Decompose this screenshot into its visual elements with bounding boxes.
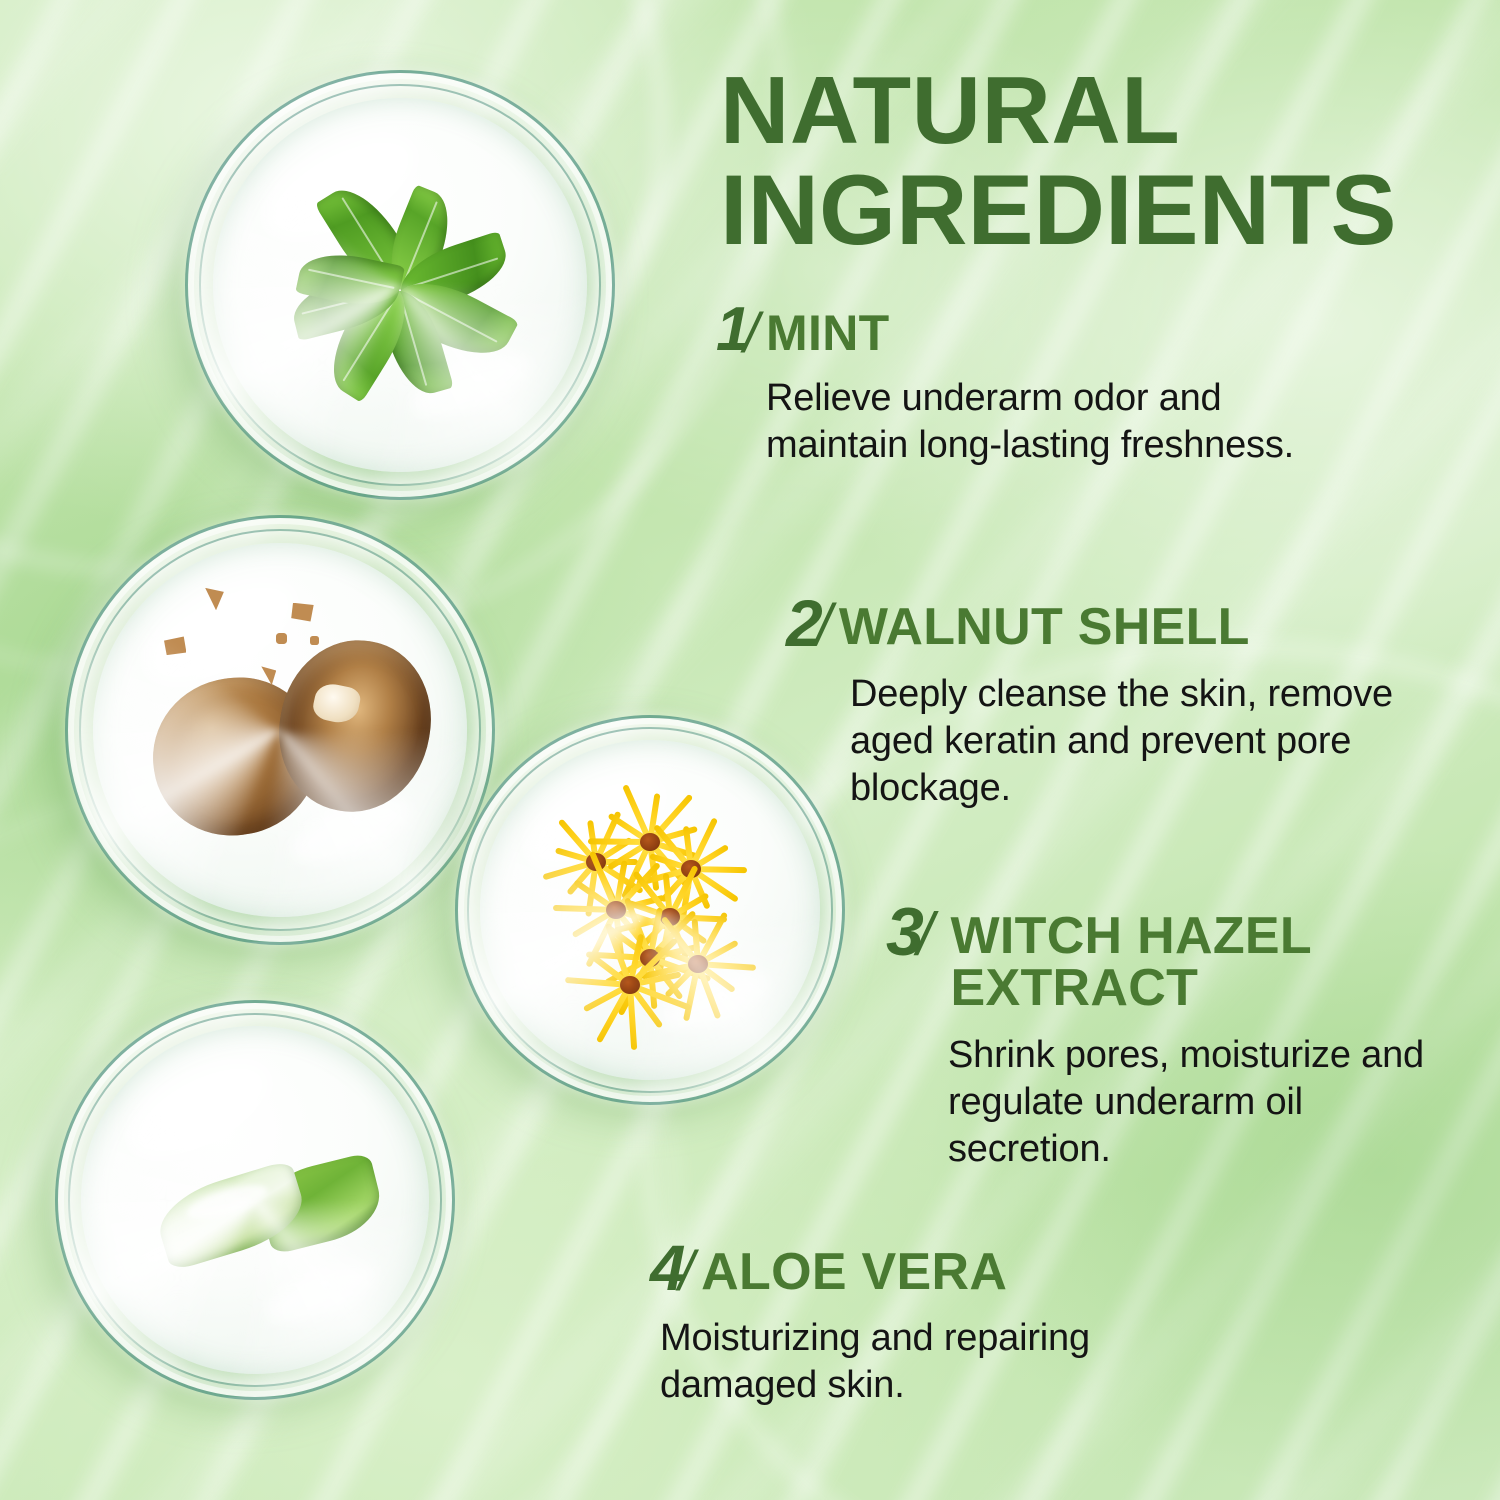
ingredient-heading: 3 / WITCH HAZEL EXTRACT [886, 900, 1486, 1014]
ingredient-heading: 4 / ALOE VERA [650, 1238, 1350, 1303]
ingredient-item-witch-hazel-extract: 3 / WITCH HAZEL EXTRACT Shrink pores, mo… [886, 900, 1486, 1173]
ingredient-item-aloe-vera: 4 / ALOE VERA Moisturizing and repairing… [650, 1238, 1350, 1409]
ingredient-description: Deeply cleanse the skin, remove aged ker… [850, 671, 1470, 812]
page-title: NATURAL INGREDIENTS [720, 62, 1480, 261]
ingredient-item-walnut-shell: 2 / WALNUT SHELL Deeply cleanse the skin… [786, 592, 1486, 812]
ingredient-description: Moisturizing and repairing damaged skin. [660, 1315, 1220, 1409]
number-slash-icon: / [743, 300, 759, 365]
ingredient-name: WITCH HAZEL EXTRACT [941, 900, 1487, 1014]
ingredient-item-mint: 1 / MINT Relieve underarm odor and maint… [716, 300, 1416, 469]
ingredient-name: ALOE VERA [701, 1238, 1007, 1298]
number-slash-icon: / [816, 592, 832, 659]
ingredient-description: Shrink pores, moisturize and regulate un… [948, 1032, 1468, 1173]
number-slash-icon: / [679, 1238, 695, 1303]
title-line-1: NATURAL [720, 57, 1180, 164]
ingredient-heading: 1 / MINT [716, 300, 1416, 365]
ingredient-heading: 2 / WALNUT SHELL [786, 592, 1486, 659]
ingredient-description: Relieve underarm odor and maintain long-… [766, 375, 1326, 469]
ingredients-infographic: NATURAL INGREDIENTS 1 / MINT Relieve und… [0, 0, 1500, 1500]
ingredient-name: WALNUT SHELL [839, 592, 1250, 653]
title-line-2: INGREDIENTS [720, 160, 1480, 261]
ingredient-name: MINT [766, 300, 889, 358]
number-slash-icon: / [917, 900, 934, 969]
